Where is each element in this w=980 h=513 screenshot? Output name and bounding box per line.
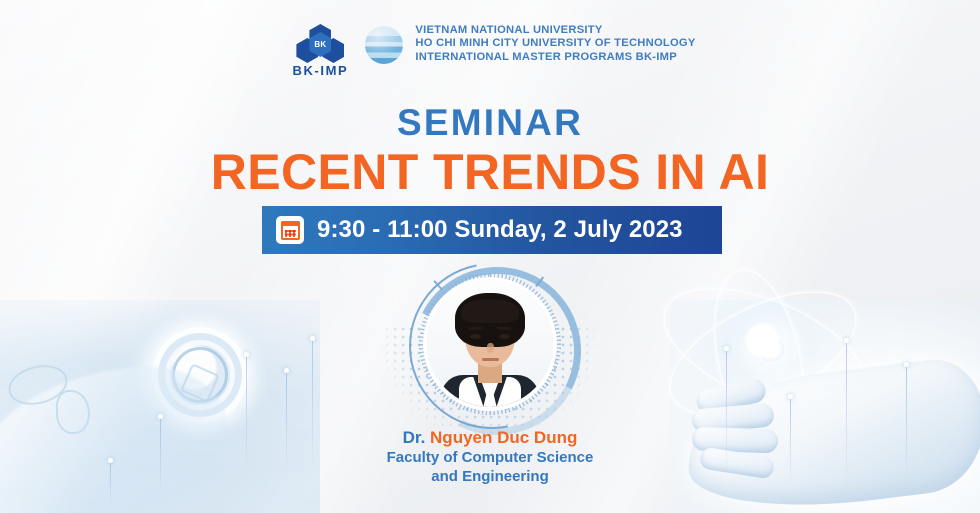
portrait-hair	[455, 293, 525, 347]
portrait-eye-left	[470, 334, 481, 339]
wave-circle-icon	[365, 26, 403, 64]
speaker-caption: Dr. Nguyen Duc Dung Faculty of Computer …	[0, 428, 980, 486]
calendar-icon	[276, 216, 304, 244]
speaker-portrait-frame	[427, 281, 553, 407]
glow-node-icon	[758, 336, 784, 362]
org-line-2: HO CHI MINH CITY UNIVERSITY OF TECHNOLOG…	[415, 37, 695, 50]
calendar-glyph	[281, 221, 300, 240]
header-logo-row: BK BK-IMP VIETNAM NATIONAL UNIVERSITY HO…	[0, 24, 980, 80]
speaker-honorific: Dr.	[403, 428, 426, 447]
bk-imp-logo: BK BK-IMP	[284, 24, 356, 80]
seminar-poster: BK BK-IMP VIETNAM NATIONAL UNIVERSITY HO…	[0, 0, 980, 513]
speaker-name: Dr. Nguyen Duc Dung	[0, 428, 980, 448]
seminar-kicker: SEMINAR	[0, 104, 980, 141]
speaker-affiliation: Faculty of Computer Science and Engineer…	[0, 448, 980, 486]
portrait-nose	[487, 343, 494, 353]
bk-imp-wordmark: BK-IMP	[284, 64, 356, 77]
org-line-1: VIETNAM NATIONAL UNIVERSITY	[415, 24, 695, 37]
university-name-block: VIETNAM NATIONAL UNIVERSITY HO CHI MINH …	[415, 24, 695, 64]
org-line-3: INTERNATIONAL MASTER PROGRAMS BK-IMP	[415, 51, 695, 64]
hexagon-logo-icon: BK	[292, 24, 348, 64]
portrait-eye-right	[499, 334, 510, 339]
avatar	[427, 281, 553, 407]
date-time-banner: 9:30 - 11:00 Sunday, 2 July 2023	[262, 206, 722, 254]
speaker-affiliation-line2: and Engineering	[0, 467, 980, 486]
hex-center-label: BK	[314, 41, 326, 49]
date-time-text: 9:30 - 11:00 Sunday, 2 July 2023	[317, 216, 683, 244]
speaker-affiliation-line1: Faculty of Computer Science	[0, 448, 980, 467]
portrait-mouth	[482, 358, 499, 361]
page-title: RECENT TRENDS IN AI	[0, 147, 980, 197]
speaker-fullname: Nguyen Duc Dung	[430, 428, 577, 447]
